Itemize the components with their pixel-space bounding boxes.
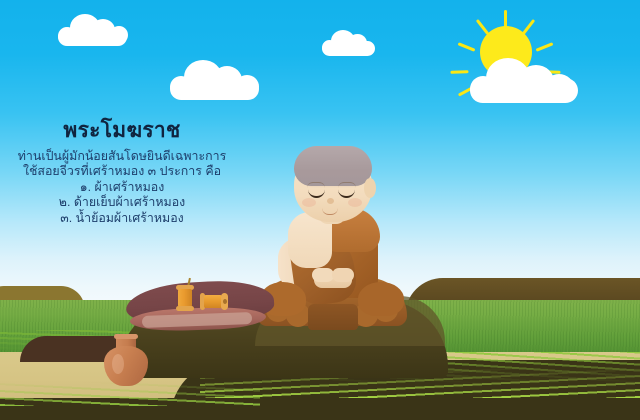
monk-nose — [327, 198, 334, 204]
monk-ear — [364, 178, 376, 198]
cloud-part — [544, 74, 574, 102]
list-item: ๓. น้ำย้อมผ้าเศร้าหมอง — [6, 211, 238, 226]
cloud-part — [322, 40, 337, 55]
spool-body — [178, 289, 192, 307]
jar-body — [104, 346, 148, 386]
spool-body — [204, 295, 222, 308]
jar-highlight — [112, 354, 124, 374]
sun-ray — [458, 42, 476, 52]
jar-rim — [114, 334, 138, 339]
monk-knee — [358, 282, 404, 316]
cloud-part — [170, 76, 192, 98]
clay-water-jar — [104, 334, 148, 386]
body-line: ใช้สอยจีวรที่เศร้าหมอง ๓ ประการ คือ — [6, 164, 238, 179]
cloud-part — [470, 76, 496, 102]
thread-spool — [176, 285, 194, 311]
cloud — [170, 60, 260, 100]
list-item: ๑. ผ้าเศร้าหมอง — [6, 180, 238, 195]
cloud — [470, 58, 580, 103]
cloud-part — [110, 26, 128, 44]
monk-hand — [332, 268, 354, 282]
cloud-part — [348, 34, 367, 52]
monk-cheek — [348, 198, 362, 207]
body-line: ท่านเป็นผู้มักน้อยสันโดษยินดีเฉพาะการ — [6, 149, 238, 164]
thread-spool — [200, 293, 228, 310]
list-item: ๒. ด้ายเย็บผ้าเศร้าหมอง — [6, 195, 238, 210]
monk-eyebrow — [307, 182, 325, 188]
page-title: พระโมฆราช — [6, 118, 238, 144]
spool-hole — [223, 299, 227, 304]
cloud — [322, 30, 376, 56]
illustration-scene: พระโมฆราช ท่านเป็นผู้มักน้อยสันโดษยินดีเ… — [0, 0, 640, 420]
text-block: พระโมฆราช ท่านเป็นผู้มักน้อยสันโดษยินดีเ… — [6, 118, 238, 226]
monk-hand — [312, 268, 334, 282]
cloud-part — [235, 75, 259, 98]
cloud — [58, 14, 128, 46]
spool-flange-bottom — [176, 306, 194, 311]
cloud-part — [58, 27, 76, 45]
meditating-monk — [262, 146, 402, 326]
monk-cheek — [302, 198, 316, 207]
sun-ray — [450, 70, 468, 74]
monk-seat-block — [308, 304, 358, 330]
sun-ray — [536, 42, 554, 52]
monk-eyebrow — [338, 182, 356, 188]
